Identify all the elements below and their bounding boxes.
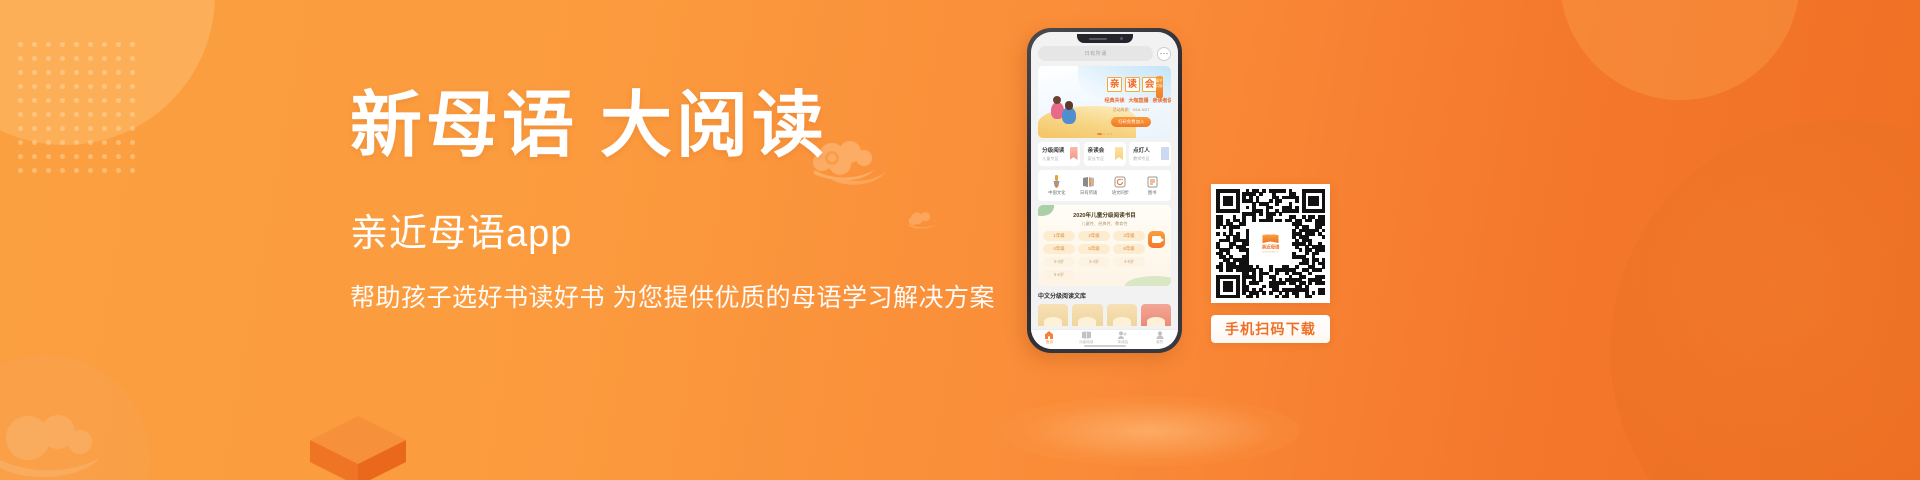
- hero-cta-button[interactable]: 扫码免费加入: [1111, 117, 1151, 127]
- bottom-left-flourish-icon: [0, 398, 150, 480]
- cube-decoration: [310, 416, 406, 480]
- copy-block: 新母语 大阅读 亲近母语app 帮助孩子选好书读好书 为您提供优质的母语学习解决…: [350, 84, 1010, 314]
- page-title: 新母语 大阅读: [350, 84, 1010, 168]
- sync-circle-icon: [1105, 175, 1137, 188]
- qr-block: 亲近母语 QINJIN MUYU 手机扫码下载: [1211, 184, 1330, 343]
- dot-grid-decoration: [18, 42, 140, 180]
- grade-chip-group: 1年级 2年级 3年级 4年级 5年级 6年级 0-3岁 3-4岁 4-5岁 5…: [1043, 231, 1147, 280]
- reading-icon: [1068, 331, 1105, 339]
- hero-title-char-2: 会: [1142, 77, 1157, 92]
- video-play-icon[interactable]: [1148, 231, 1165, 248]
- library-card[interactable]: [1038, 304, 1068, 326]
- culture-brush-icon: [1041, 175, 1073, 188]
- hero-title-char-1: 读: [1125, 77, 1140, 92]
- age-chip[interactable]: 4-5岁: [1113, 257, 1145, 267]
- nav-cards: 分级阅读 儿童专区 亲读会 家长专区 点灯人 教师专区: [1038, 142, 1171, 166]
- grade-chip[interactable]: 1年级: [1043, 231, 1075, 241]
- grade-chip[interactable]: 2年级: [1078, 231, 1110, 241]
- library-card[interactable]: [1107, 304, 1137, 326]
- qr-logo-en: QINJIN MUYU: [1262, 251, 1278, 253]
- grade-chip[interactable]: 4年级: [1043, 244, 1075, 254]
- library-cards: [1038, 304, 1171, 326]
- phone-notch: [1077, 34, 1133, 43]
- tab-label: 亲读会: [1105, 340, 1142, 345]
- open-book-logo-icon: [1263, 234, 1279, 243]
- phone-mockup: 日有所诵 亲 读 会 亲子共: [1027, 28, 1182, 353]
- download-button[interactable]: 手机扫码下载: [1211, 315, 1330, 343]
- search-row: 日有所诵: [1038, 46, 1171, 61]
- nav-card-parent-club[interactable]: 亲读会 家长专区: [1084, 142, 1126, 166]
- quick-icon-label: 图书: [1136, 190, 1168, 196]
- decorative-circle-bottom-right: [1610, 120, 1920, 480]
- grade-chip[interactable]: 6年级: [1113, 244, 1145, 254]
- quick-icon-row: 中国文化 日有所诵: [1038, 170, 1171, 201]
- age-chip[interactable]: 5-6岁: [1043, 270, 1075, 280]
- booklist-card[interactable]: 2020年儿童分级阅读书目 儿童性、经典性、教育性 1年级 2年级 3年级 4年…: [1038, 205, 1171, 286]
- booklist-title: 2020年儿童分级阅读书目: [1043, 211, 1166, 219]
- user-icon: [1141, 331, 1178, 339]
- qr-center-logo: 亲近母语 QINJIN MUYU: [1255, 228, 1286, 259]
- hero-subtitle-item-1: 大咖直播: [1129, 97, 1149, 104]
- carousel-dot[interactable]: [1103, 133, 1105, 135]
- app-screen: 日有所诵 亲 读 会 亲子共: [1031, 32, 1178, 349]
- home-indicator: [1084, 345, 1126, 347]
- book-stack-icon: [1136, 175, 1168, 188]
- carousel-dot[interactable]: [1110, 133, 1112, 135]
- nav-card-graded-reading[interactable]: 分级阅读 儿童专区: [1038, 142, 1080, 166]
- decorative-circle-top-right: [1560, 0, 1800, 100]
- hero-side-tag: 亲子共读: [1156, 76, 1163, 98]
- library-card[interactable]: [1141, 304, 1171, 326]
- tab-profile[interactable]: 我的: [1141, 331, 1178, 345]
- group-icon: [1105, 331, 1142, 339]
- qr-code[interactable]: 亲近母语 QINJIN MUYU: [1211, 184, 1330, 303]
- grade-chip[interactable]: 3年级: [1113, 231, 1145, 241]
- quick-icon-books[interactable]: 图书: [1136, 175, 1168, 196]
- quick-icon-culture[interactable]: 中国文化: [1041, 175, 1073, 196]
- library-heading: 中文分级阅读文库: [1038, 291, 1171, 300]
- age-chip[interactable]: 3-4岁: [1078, 257, 1110, 267]
- hero-child-art-2: [1062, 107, 1076, 124]
- library-card[interactable]: [1072, 304, 1102, 326]
- tab-label: 首页: [1031, 340, 1068, 345]
- qr-logo-name: 亲近母语: [1262, 244, 1280, 250]
- search-placeholder: 日有所诵: [1085, 50, 1107, 57]
- hero-date-label: 活动周期：9/16-9/27: [1112, 107, 1149, 113]
- promo-banner: 新母语 大阅读 亲近母语app 帮助孩子选好书读好书 为您提供优质的母语学习解决…: [0, 0, 1920, 480]
- quick-icon-daily-recite[interactable]: 日有所诵: [1073, 175, 1105, 196]
- quick-icon-label: 语文同步: [1105, 190, 1137, 196]
- phone-shadow: [1000, 396, 1300, 466]
- more-dots-icon[interactable]: [1157, 47, 1171, 61]
- open-book-icon: [1073, 175, 1105, 188]
- hero-banner[interactable]: 亲 读 会 亲子共读 经典共读 大咖直播 亲读者说 活动周期：9/16-9/27…: [1038, 66, 1171, 138]
- hero-title-char-0: 亲: [1107, 77, 1122, 92]
- nav-card-teacher[interactable]: 点灯人 教师专区: [1129, 142, 1171, 166]
- home-icon: [1031, 331, 1068, 339]
- lamp-blue-icon: [1161, 147, 1169, 160]
- qr-canvas: 亲近母语 QINJIN MUYU: [1216, 189, 1325, 298]
- carousel-dot[interactable]: [1107, 133, 1109, 135]
- tab-label: 我的: [1141, 340, 1178, 345]
- hero-subtitle: 经典共读 大咖直播 亲读者说: [1105, 97, 1172, 104]
- tab-parent-club[interactable]: 亲读会: [1105, 331, 1142, 345]
- search-input[interactable]: 日有所诵: [1038, 46, 1153, 61]
- quick-icon-sync[interactable]: 语文同步: [1105, 175, 1137, 196]
- hero-title: 亲 读 会: [1107, 77, 1157, 92]
- tagline-label: 帮助孩子选好书读好书 为您提供优质的母语学习解决方案: [350, 282, 1010, 314]
- phone-screen: 日有所诵 亲 读 会 亲子共: [1031, 32, 1178, 349]
- tab-label: 分级阅读: [1068, 340, 1105, 345]
- tab-home[interactable]: 首页: [1031, 331, 1068, 345]
- carousel-dots[interactable]: [1097, 133, 1113, 135]
- hero-subtitle-item-2: 亲读者说: [1153, 97, 1171, 104]
- app-name-label: 亲近母语app: [350, 212, 1010, 256]
- quick-icon-label: 日有所诵: [1073, 190, 1105, 196]
- library-section: 中文分级阅读文库: [1038, 291, 1171, 326]
- grade-chip[interactable]: 5年级: [1078, 244, 1110, 254]
- carousel-dot[interactable]: [1097, 133, 1102, 135]
- hero-subtitle-item-0: 经典共读: [1105, 97, 1125, 104]
- quick-icon-label: 中国文化: [1041, 190, 1073, 196]
- booklist-subtitle: 儿童性、经典性、教育性: [1043, 221, 1166, 227]
- age-chip[interactable]: 0-3岁: [1043, 257, 1075, 267]
- tab-graded-reading[interactable]: 分级阅读: [1068, 331, 1105, 345]
